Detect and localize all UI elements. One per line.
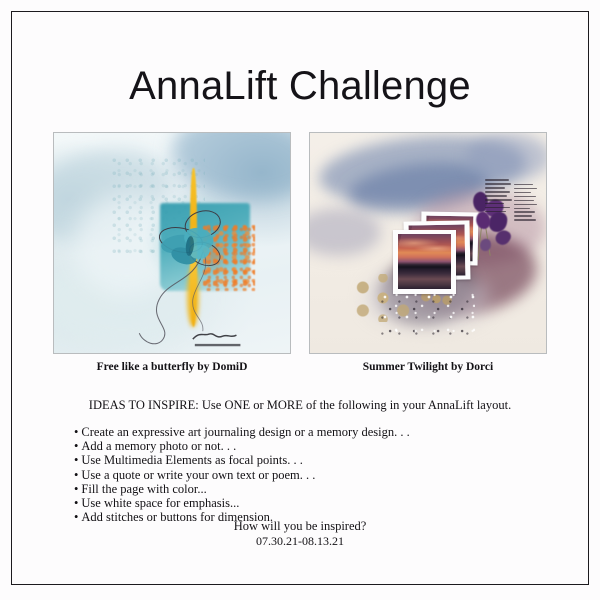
watercolor-wash <box>466 133 547 181</box>
list-item: Create an expressive art journaling desi… <box>74 425 410 439</box>
challenge-date-range: 07.30.21-08.13.21 <box>0 534 600 549</box>
annalift-challenge-poster: AnnaLift Challenge <box>0 0 600 600</box>
page-title: AnnaLift Challenge <box>0 64 600 108</box>
list-item: Use Multimedia Elements as focal points.… <box>74 453 410 467</box>
list-item: Fill the page with color... <box>74 482 410 496</box>
butterfly-and-thread-illustration <box>54 133 290 353</box>
paint-splatter <box>381 291 475 335</box>
artwork-canvas-right <box>310 133 546 353</box>
artwork-caption-right: Summer Twilight by Dorci <box>309 361 547 373</box>
closing-question: How will you be inspired? <box>0 519 600 534</box>
list-item: Use a quote or write your own text or po… <box>74 468 410 482</box>
artwork-caption-left: Free like a butterfly by DomiD <box>53 361 291 373</box>
artwork-summer-twilight[interactable] <box>309 132 547 354</box>
ideas-heading: IDEAS TO INSPIRE: Use ONE or MORE of the… <box>0 398 600 413</box>
handwritten-journaling-column <box>514 184 539 224</box>
handwritten-journaling-column <box>485 179 513 215</box>
list-item: Add a memory photo or not. . . <box>74 439 410 453</box>
artwork-free-like-a-butterfly[interactable] <box>53 132 291 354</box>
inspiration-bullet-list: Create an expressive art journaling desi… <box>74 425 410 524</box>
list-item: Use white space for emphasis... <box>74 496 410 510</box>
photo-frame-sunset-lake <box>393 230 457 294</box>
artwork-canvas-left <box>54 133 290 353</box>
artwork-caption-text <box>193 334 241 345</box>
watercolor-wash <box>309 208 381 256</box>
